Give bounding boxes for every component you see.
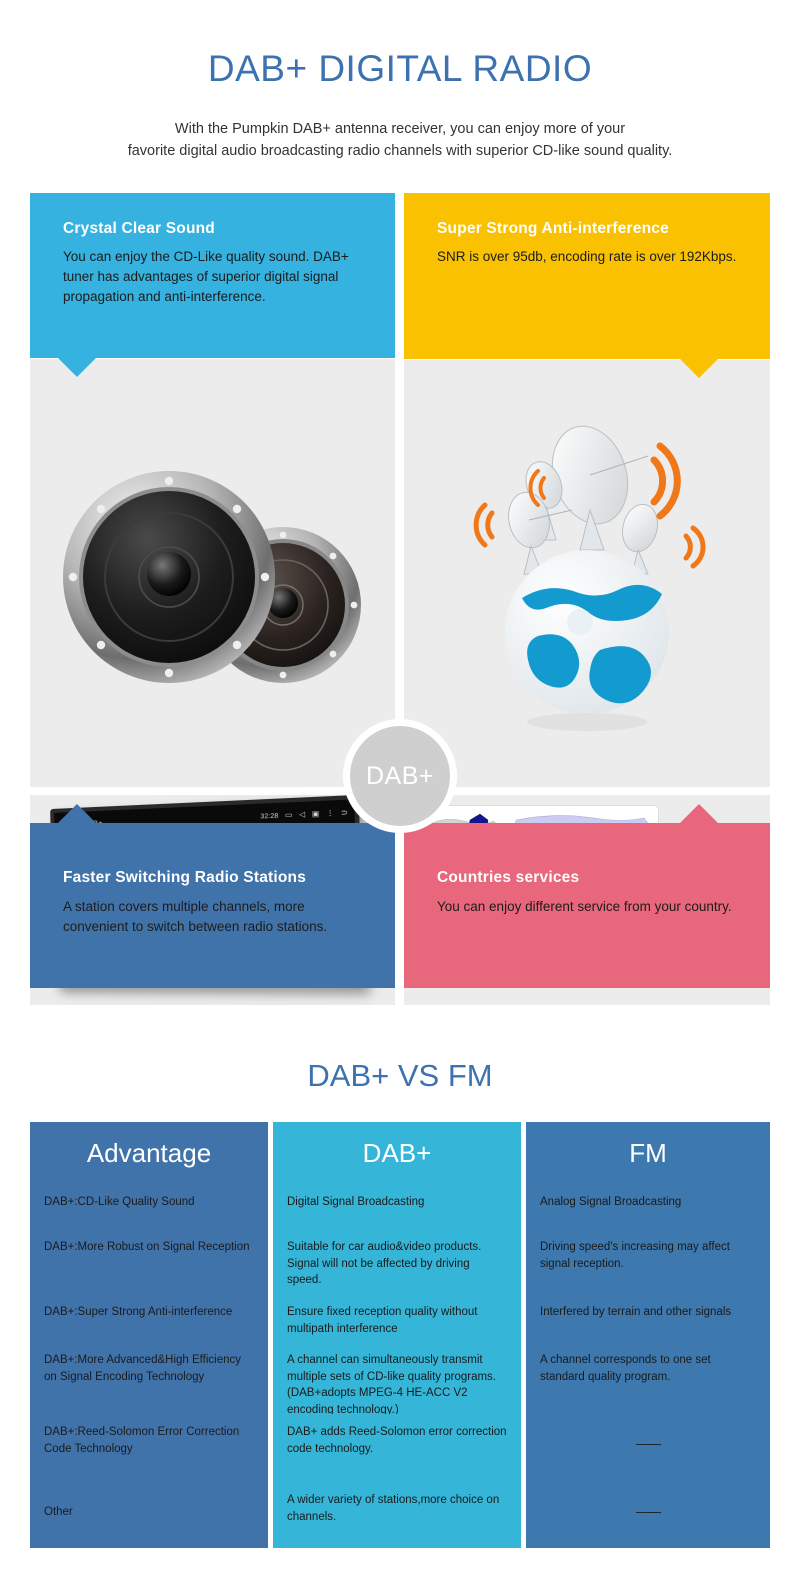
page-title: DAB+ DIGITAL RADIO xyxy=(0,48,800,90)
cell-text: Analog Signal Broadcasting xyxy=(526,1184,695,1211)
card-super-strong-anti-interference: Super Strong Anti-interference SNR is ov… xyxy=(404,193,770,359)
cell-text: A channel corresponds to one set standar… xyxy=(526,1342,770,1385)
cell-text: —— xyxy=(526,1482,770,1521)
globe-antenna-illustration xyxy=(404,360,770,787)
cell-fm: Interfered by terrain and other signals xyxy=(526,1294,770,1342)
screen-icon: ▣ xyxy=(312,810,320,819)
cell-fm: Analog Signal Broadcasting xyxy=(526,1184,770,1229)
card-pointer-arrow xyxy=(58,358,96,377)
volume-icon: ◁ xyxy=(299,810,305,819)
cell-advantage: DAB+:More Advanced&High Efficiency on Si… xyxy=(30,1342,268,1414)
card-title: Crystal Clear Sound xyxy=(63,220,215,238)
overflow-menu-icon: ⋮ xyxy=(326,809,334,818)
cell-dab: Digital Signal Broadcasting xyxy=(273,1184,521,1229)
card-body: You can enjoy different service from you… xyxy=(437,897,737,917)
card-countries-services: Countries services You can enjoy differe… xyxy=(404,823,770,988)
table-header-row: Advantage DAB+ FM xyxy=(30,1122,770,1184)
intro-line-2: favorite digital audio broadcasting radi… xyxy=(50,140,750,162)
cell-text: A channel can simultaneously transmit mu… xyxy=(273,1342,521,1418)
cell-text: DAB+ adds Reed-Solomon error correction … xyxy=(273,1414,521,1457)
card-title: Faster Switching Radio Stations xyxy=(63,869,306,887)
cell-text: DAB+:More Advanced&High Efficiency on Si… xyxy=(30,1342,268,1385)
column-header-dab: DAB+ xyxy=(273,1122,521,1184)
cell-dab: Ensure fixed reception quality without m… xyxy=(273,1294,521,1342)
table-body: DAB+:CD-Like Quality Sound Digital Signa… xyxy=(30,1184,770,1548)
speaker-image-panel xyxy=(30,359,395,787)
cell-text: Other xyxy=(30,1482,87,1521)
cell-text: Ensure fixed reception quality without m… xyxy=(273,1294,521,1337)
cell-text: —— xyxy=(526,1414,770,1453)
cell-text: Interfered by terrain and other signals xyxy=(526,1294,745,1321)
card-body: SNR is over 95db, encoding rate is over … xyxy=(437,247,737,267)
cell-text: DAB+:More Robust on Signal Reception xyxy=(30,1229,264,1256)
cell-text: Suitable for car audio&video products. S… xyxy=(273,1229,521,1289)
comparison-table: Advantage DAB+ FM DAB+:CD-Like Quality S… xyxy=(30,1122,770,1548)
table-row: Other A wider variety of stations,more c… xyxy=(30,1482,770,1548)
column-header-fm: FM xyxy=(526,1122,770,1184)
card-pointer-arrow xyxy=(680,359,718,378)
cell-text: DAB+:Reed-Solomon Error Correction Code … xyxy=(30,1414,268,1457)
feature-cards-section: ⌂ DAB+ 32:28 ▭ ◁ ▣ ⋮ ⊃ ⌕ ♡ ☰ ⟟ xyxy=(0,193,800,988)
cell-advantage: DAB+:CD-Like Quality Sound xyxy=(30,1184,268,1229)
table-row: DAB+:CD-Like Quality Sound Digital Signa… xyxy=(30,1184,770,1229)
card-body: You can enjoy the CD-Like quality sound.… xyxy=(63,247,363,307)
card-faster-switching-radio-stations: Faster Switching Radio Stations A statio… xyxy=(30,823,395,988)
cell-text: Digital Signal Broadcasting xyxy=(273,1184,438,1211)
comparison-title: DAB+ VS FM xyxy=(0,1058,800,1094)
speaker-illustration xyxy=(30,359,395,787)
cell-advantage: DAB+:Super Strong Anti-interference xyxy=(30,1294,268,1342)
card-crystal-clear-sound: Crystal Clear Sound You can enjoy the CD… xyxy=(30,193,395,358)
card-body: A station covers multiple channels, more… xyxy=(63,897,363,937)
card-title: Countries services xyxy=(437,869,579,887)
cell-dab: Suitable for car audio&video products. S… xyxy=(273,1229,521,1294)
cell-text: DAB+:CD-Like Quality Sound xyxy=(30,1184,209,1211)
table-row: DAB+:More Robust on Signal Reception Sui… xyxy=(30,1229,770,1294)
cell-fm: Driving speed's increasing may affect si… xyxy=(526,1229,770,1294)
cell-text: DAB+:Super Strong Anti-interference xyxy=(30,1294,246,1321)
cell-dab: A wider variety of stations,more choice … xyxy=(273,1482,521,1548)
card-pointer-arrow xyxy=(58,804,96,823)
cell-advantage: DAB+:More Robust on Signal Reception xyxy=(30,1229,268,1294)
intro-line-1: With the Pumpkin DAB+ antenna receiver, … xyxy=(50,118,750,140)
column-header-advantage: Advantage xyxy=(30,1122,268,1184)
card-pointer-arrow xyxy=(680,804,718,823)
dab-plus-badge-label: DAB+ xyxy=(366,762,434,791)
table-row: DAB+:Super Strong Anti-interference Ensu… xyxy=(30,1294,770,1342)
card-title: Super Strong Anti-interference xyxy=(437,220,669,238)
globe-antenna-image-panel xyxy=(404,360,770,787)
back-icon: ⊃ xyxy=(341,808,348,817)
cell-text: Driving speed's increasing may affect si… xyxy=(526,1229,770,1272)
infographic-page: DAB+ DIGITAL RADIO With the Pumpkin DAB+… xyxy=(0,0,800,1586)
cell-fm: A channel corresponds to one set standar… xyxy=(526,1342,770,1414)
table-row: DAB+:More Advanced&High Efficiency on Si… xyxy=(30,1342,770,1414)
intro-paragraph: With the Pumpkin DAB+ antenna receiver, … xyxy=(50,118,750,162)
cell-fm: —— xyxy=(526,1482,770,1548)
dab-plus-badge: DAB+ xyxy=(343,719,457,833)
cell-dab: DAB+ adds Reed-Solomon error correction … xyxy=(273,1414,521,1482)
sd-card-icon: ▭ xyxy=(285,811,293,820)
cell-text: A wider variety of stations,more choice … xyxy=(273,1482,521,1525)
cell-advantage: Other xyxy=(30,1482,268,1548)
cell-fm: —— xyxy=(526,1414,770,1482)
clock-label: 32:28 xyxy=(260,812,278,820)
cell-advantage: DAB+:Reed-Solomon Error Correction Code … xyxy=(30,1414,268,1482)
table-row: DAB+:Reed-Solomon Error Correction Code … xyxy=(30,1414,770,1482)
cell-dab: A channel can simultaneously transmit mu… xyxy=(273,1342,521,1414)
